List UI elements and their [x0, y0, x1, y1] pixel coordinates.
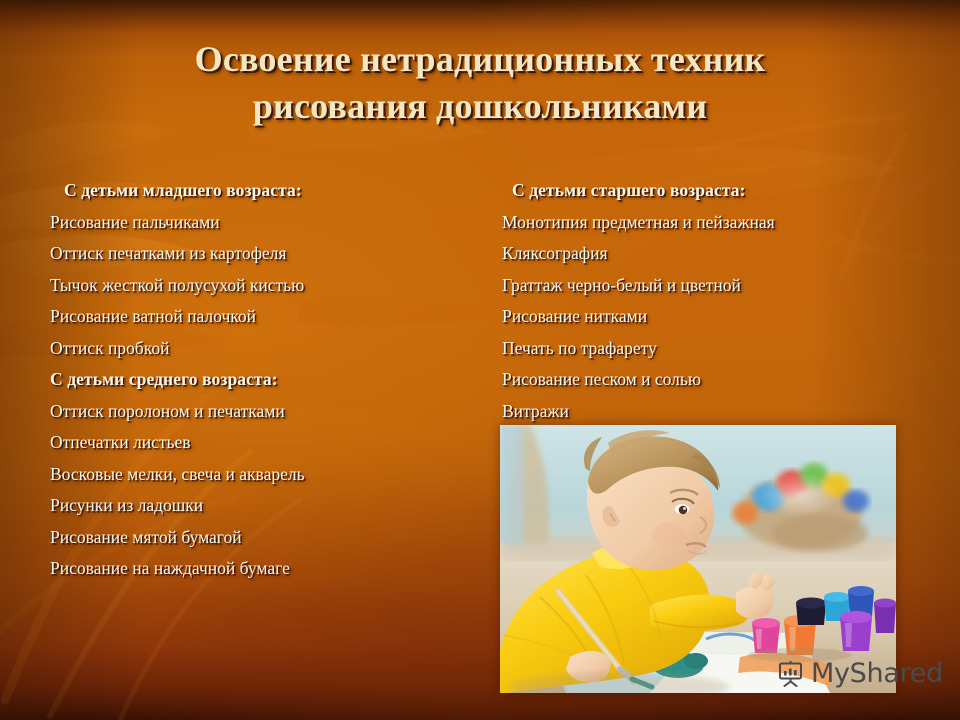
presentation-slide: Освоение нетрадиционных техник рисования… [0, 0, 960, 720]
list-item: Рисунки из ладошки [50, 490, 470, 522]
list-item: Оттиск пробкой [50, 333, 470, 365]
title-line-1: Освоение нетрадиционных техник [70, 36, 890, 83]
page-title: Освоение нетрадиционных техник рисования… [70, 36, 890, 130]
list-item: Кляксография [498, 238, 928, 270]
left-heading-younger: С детьми младшего возраста: [50, 175, 470, 207]
list-item: Оттиск печатками из картофеля [50, 238, 470, 270]
title-line-2: рисования дошкольниками [70, 83, 890, 130]
list-item: Печать по трафарету [498, 333, 928, 365]
list-item: Граттаж черно-белый и цветной [498, 270, 928, 302]
child-painting-photo [500, 425, 896, 693]
list-item: Рисование ватной палочкой [50, 301, 470, 333]
list-item: Рисование пальчиками [50, 207, 470, 239]
left-content-column: С детьми младшего возраста: Рисование па… [50, 175, 470, 585]
list-item: Отпечатки листьев [50, 427, 470, 459]
photo-illustration [500, 425, 896, 693]
right-heading-older: С детьми старшего возраста: [498, 175, 928, 207]
list-item: Рисование песком и солью [498, 364, 928, 396]
list-item: Витражи [498, 396, 928, 428]
list-item: Рисование нитками [498, 301, 928, 333]
list-item: Восковые мелки, свеча и акварель [50, 459, 470, 491]
list-item: Рисование мятой бумагой [50, 522, 470, 554]
left-heading-middle: С детьми среднего возраста: [50, 364, 470, 396]
list-item: Монотипия предметная и пейзажная [498, 207, 928, 239]
list-item: Оттиск поролоном и печатками [50, 396, 470, 428]
list-item: Тычок жесткой полусухой кистью [50, 270, 470, 302]
list-item: Рисование на наждачной бумаге [50, 553, 470, 585]
right-content-column: С детьми старшего возраста: Монотипия пр… [498, 175, 928, 427]
